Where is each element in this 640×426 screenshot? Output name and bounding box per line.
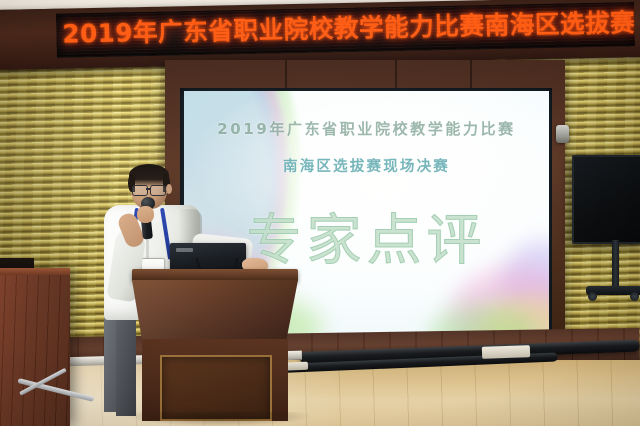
cable-clamp	[482, 345, 530, 359]
wall-speaker-icon	[556, 125, 569, 143]
laptop-logo	[176, 248, 193, 252]
eyeglasses-lens-left	[132, 185, 148, 196]
tv-monitor	[572, 155, 640, 244]
desk-top-edge	[0, 268, 70, 275]
podium-body-sheen	[132, 280, 298, 340]
slide-subtitle-line-1: 2019年广东省职业院校教学能力比赛	[184, 118, 549, 139]
presenter-leg	[116, 316, 136, 416]
tv-stand-stem	[612, 240, 619, 288]
tv-caster-wheel	[630, 292, 639, 301]
eyeglasses-bridge	[146, 188, 151, 190]
podium-floor-shadow	[128, 412, 310, 426]
led-banner-text: 2019年广东省职业院校教学能力比赛南海区选拔赛现场决赛	[62, 6, 626, 51]
conference-hall-photo: 2019年广东省职业院校教学能力比赛南海区选拔赛现场决赛 2019年广东省职业院…	[0, 0, 640, 426]
podium-top-surface	[132, 269, 298, 281]
presenter-hand-holding-mic	[137, 206, 154, 223]
tv-caster-wheel	[588, 292, 597, 301]
led-banner-screen: 2019年广东省职业院校教学能力比赛南海区选拔赛现场决赛	[56, 2, 635, 58]
presenter-ear	[166, 184, 172, 194]
slide-subtitle-line-2: 南海区选拔赛现场决赛	[184, 155, 549, 176]
desk-wood-grain	[0, 275, 70, 426]
eyeglasses-lens-right	[150, 185, 166, 196]
